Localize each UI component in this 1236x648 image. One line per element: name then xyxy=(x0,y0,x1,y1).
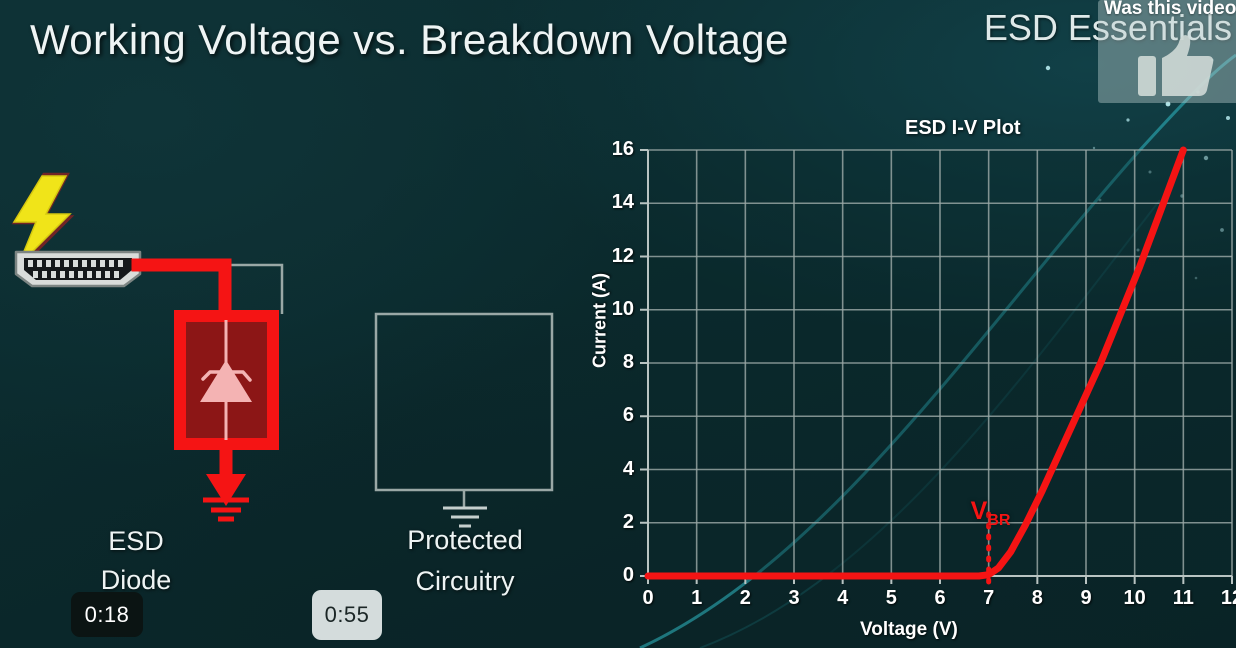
breakdown-voltage-label: VBR xyxy=(971,499,1011,529)
vbr-subscript: BR xyxy=(987,512,1010,529)
protected-circuitry-label: Protected Circuitry xyxy=(378,520,552,601)
chart-y-tick: 6 xyxy=(600,404,634,427)
circuit-diagram: ESD Diode Protected Circuitry xyxy=(0,170,580,570)
chart-x-tick: 3 xyxy=(781,587,807,610)
video-survey-overlay[interactable]: Was this video xyxy=(1098,0,1236,103)
chart-plot-area xyxy=(575,105,1236,648)
chart-x-tick: 8 xyxy=(1024,587,1050,610)
protected-circuitry-line1: Protected xyxy=(378,520,552,561)
esd-diode-label-line1: ESD xyxy=(88,522,184,561)
esd-iv-chart: ESD I-V Plot Current (A) Voltage (V) 024… xyxy=(575,105,1236,648)
chart-title: ESD I-V Plot xyxy=(905,117,1021,140)
hdmi-connector-icon xyxy=(16,252,140,286)
chart-x-tick: 1 xyxy=(684,587,710,610)
esd-diode-label: ESD Diode xyxy=(88,522,184,600)
esd-diode-block xyxy=(180,316,273,444)
chart-x-tick: 2 xyxy=(732,587,758,610)
chart-x-tick: 0 xyxy=(635,587,661,610)
chart-y-tick: 8 xyxy=(600,351,634,374)
slide-canvas: Working Voltage vs. Breakdown Voltage ES… xyxy=(0,0,1236,648)
survey-question: Was this video xyxy=(1104,0,1236,20)
chart-y-tick: 4 xyxy=(600,458,634,481)
chart-x-tick: 11 xyxy=(1170,587,1196,610)
protected-circuitry-block xyxy=(376,314,552,508)
protected-circuitry-line2: Circuitry xyxy=(378,561,552,602)
chart-y-tick: 10 xyxy=(600,298,634,321)
chart-y-tick: 14 xyxy=(600,191,634,214)
esd-current-path xyxy=(138,265,225,316)
chart-x-tick: 10 xyxy=(1122,587,1148,610)
timestamp-total[interactable]: 0:55 xyxy=(312,590,382,640)
timestamp-current[interactable]: 0:18 xyxy=(71,592,143,637)
chart-x-tick: 9 xyxy=(1073,587,1099,610)
chart-y-tick: 2 xyxy=(600,511,634,534)
chart-xlabel: Voltage (V) xyxy=(860,619,958,641)
thumbs-up-icon[interactable] xyxy=(1138,34,1214,103)
chart-x-tick: 6 xyxy=(927,587,953,610)
chart-y-tick: 12 xyxy=(600,245,634,268)
chart-x-tick: 5 xyxy=(878,587,904,610)
chart-y-tick: 0 xyxy=(600,564,634,587)
chart-x-tick: 7 xyxy=(976,587,1002,610)
chart-x-tick: 4 xyxy=(830,587,856,610)
chart-x-tick: 12 xyxy=(1219,587,1236,610)
page-title: Working Voltage vs. Breakdown Voltage xyxy=(30,16,789,64)
chart-y-tick: 16 xyxy=(600,138,634,161)
vbr-main: V xyxy=(971,497,988,525)
signal-wire xyxy=(150,265,282,314)
